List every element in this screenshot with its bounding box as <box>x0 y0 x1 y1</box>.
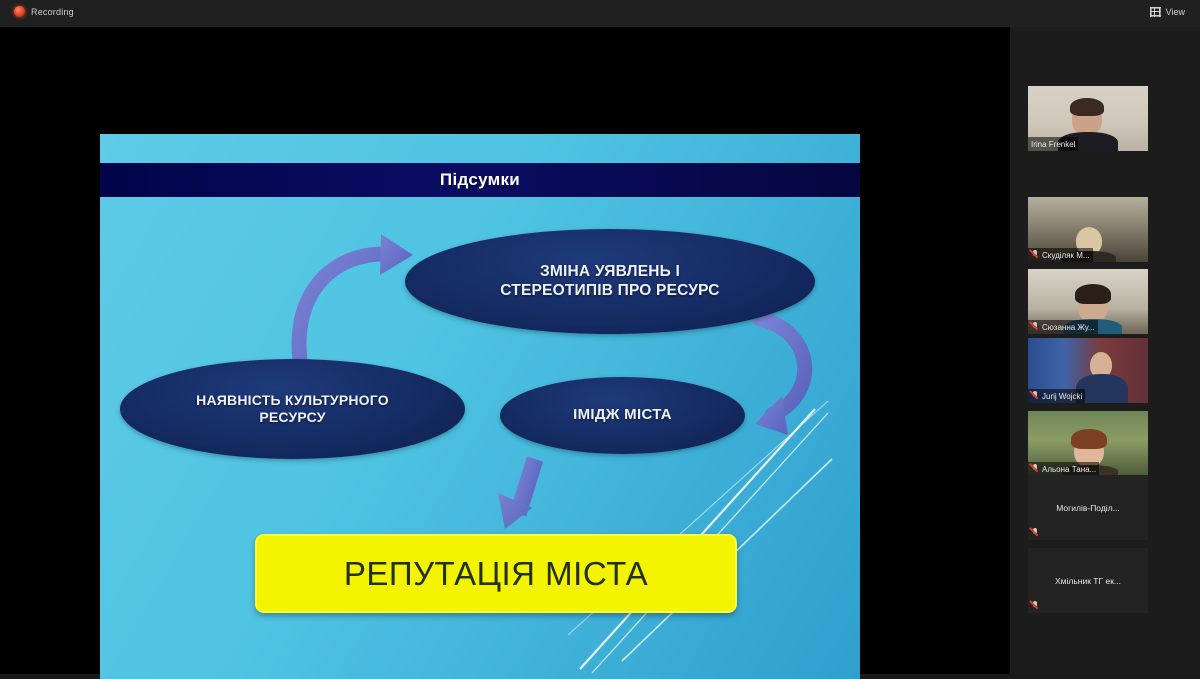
presentation-slide: Підсумки <box>100 134 860 679</box>
recording-dot-icon <box>14 6 25 17</box>
arrow-down <box>498 459 535 529</box>
participant-name: Альона Тана... <box>1042 465 1096 474</box>
participant-name: Скуділяк М... <box>1042 251 1090 260</box>
result-box-city-reputation: РЕПУТАЦІЯ МІСТА <box>255 534 737 613</box>
recording-label: Recording <box>31 7 74 17</box>
participant-name: Irina Frenkel <box>1031 140 1075 149</box>
participant-name-bar <box>1028 526 1042 540</box>
view-button[interactable]: View <box>1145 5 1190 19</box>
view-button-label: View <box>1166 7 1185 17</box>
mic-muted-icon <box>1031 322 1039 332</box>
node-change-of-perceptions: ЗМІНА УЯВЛЕНЬ І СТЕРЕОТИПІВ ПРО РЕСУРС <box>405 229 815 334</box>
mic-muted-icon <box>1031 391 1039 401</box>
node-city-image: ІМІДЖ МІСТА <box>500 377 745 454</box>
mic-muted-icon <box>1031 528 1039 538</box>
participant-name-bar: Скуділяк М... <box>1028 248 1093 262</box>
participant-name-bar: Сюзанна Жу... <box>1028 320 1098 334</box>
node-cultural-resource-text: НАЯВНІСТЬ КУЛЬТУРНОГО РЕСУРСУ <box>196 392 389 426</box>
node-change-of-perceptions-text: ЗМІНА УЯВЛЕНЬ І СТЕРЕОТИПІВ ПРО РЕСУРС <box>500 263 719 301</box>
participant-name: Сюзанна Жу... <box>1042 323 1095 332</box>
mic-muted-icon <box>1031 250 1039 260</box>
shared-screen-stage: Підсумки <box>0 27 1010 674</box>
node-cultural-resource: НАЯВНІСТЬ КУЛЬТУРНОГО РЕСУРСУ <box>120 359 465 459</box>
participant-tile-0[interactable]: Irina Frenkel <box>1028 86 1148 151</box>
grid-icon <box>1150 7 1161 17</box>
node-line-1: ЗМІНА УЯВЛЕНЬ І <box>540 263 680 280</box>
participant-tile-3[interactable]: Jurij Wojcki <box>1028 338 1148 403</box>
participant-name: Jurij Wojcki <box>1042 392 1082 401</box>
participant-tile-6[interactable]: Хмільник ТГ ек... <box>1028 548 1148 613</box>
zoom-meeting-window: Recording View Підсумки <box>0 0 1200 674</box>
mic-muted-icon <box>1031 601 1039 611</box>
node-city-image-text: ІМІДЖ МІСТА <box>573 406 672 424</box>
result-box-text: РЕПУТАЦІЯ МІСТА <box>344 555 648 593</box>
participant-name: Хмільник ТГ ек... <box>1055 576 1121 586</box>
arrow-curved-left <box>299 234 413 377</box>
participant-name: Могилів-Поділ... <box>1056 503 1120 513</box>
participant-tile-4[interactable]: Альона Тана... <box>1028 411 1148 476</box>
participant-name-bar <box>1028 599 1042 613</box>
meeting-top-bar: Recording View <box>0 0 1200 27</box>
arrow-curved-right <box>755 319 805 435</box>
participant-tile-2[interactable]: Сюзанна Жу... <box>1028 269 1148 334</box>
participant-name-bar: Irina Frenkel <box>1028 137 1078 151</box>
recording-indicator: Recording <box>14 6 74 17</box>
participant-rail[interactable]: Irina Frenkel Скуділяк М... Сюзан <box>1010 27 1200 674</box>
participant-tile-5[interactable]: Могилів-Поділ... <box>1028 475 1148 540</box>
participant-tile-1[interactable]: Скуділяк М... <box>1028 197 1148 262</box>
slide-title-bar: Підсумки <box>100 163 860 197</box>
participant-name-bar: Альона Тана... <box>1028 462 1099 476</box>
node-line-1: НАЯВНІСТЬ КУЛЬТУРНОГО <box>196 392 389 408</box>
mic-muted-icon <box>1031 464 1039 474</box>
shared-content-frame: Підсумки <box>0 67 942 637</box>
participant-name-bar: Jurij Wojcki <box>1028 389 1085 403</box>
node-line-2: РЕСУРСУ <box>259 409 325 425</box>
slide-title: Підсумки <box>440 170 520 190</box>
node-line-2: СТЕРЕОТИПІВ ПРО РЕСУРС <box>500 282 719 299</box>
